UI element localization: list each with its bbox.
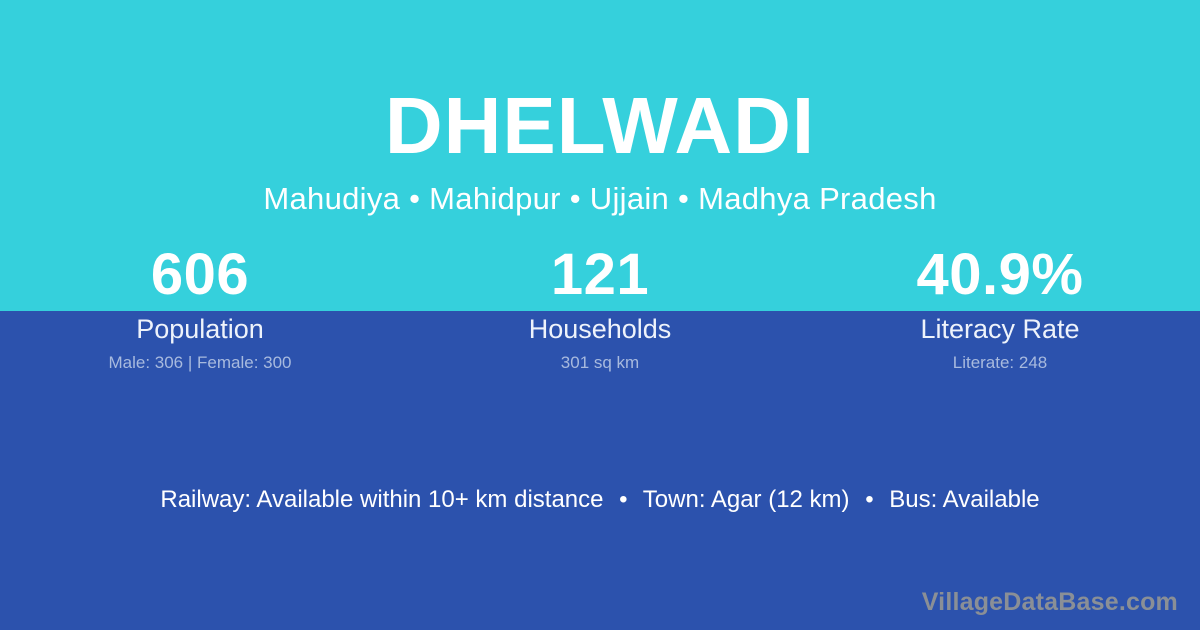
stat-label-literacy-rate: Literacy Rate xyxy=(800,312,1200,346)
stat-label-households: Households xyxy=(400,312,800,346)
stat-value-literacy-rate: 40.9% xyxy=(800,240,1200,310)
stat-value-population: 606 xyxy=(0,240,400,310)
stat-sub-households: 301 sq km xyxy=(400,352,800,374)
page-title: DHELWADI xyxy=(0,0,1200,172)
stat-sub-population: Male: 306 | Female: 300 xyxy=(0,352,400,374)
stat-sub-literacy-rate: Literate: 248 xyxy=(800,352,1200,374)
village-info-card: DHELWADI Mahudiya • Mahidpur • Ujjain • … xyxy=(0,0,1200,630)
amenity-bus: Bus: Available xyxy=(889,486,1039,513)
site-brand-watermark: VillageDataBase.com xyxy=(922,586,1178,618)
bullet-separator-icon: • xyxy=(856,486,882,513)
stat-label-population: Population xyxy=(0,312,400,346)
breadcrumb: Mahudiya • Mahidpur • Ujjain • Madhya Pr… xyxy=(0,172,1200,218)
amenities-line: Railway: Available within 10+ km distanc… xyxy=(0,483,1200,517)
stat-value-households: 121 xyxy=(400,240,800,310)
amenity-town: Town: Agar (12 km) xyxy=(643,486,850,513)
amenity-railway: Railway: Available within 10+ km distanc… xyxy=(160,486,603,513)
stat-literacy-rate: 40.9% Literacy Rate Literate: 248 xyxy=(800,240,1200,374)
stat-households: 121 Households 301 sq km xyxy=(400,240,800,374)
stat-population: 606 Population Male: 306 | Female: 300 xyxy=(0,240,400,374)
stats-row: 606 Population Male: 306 | Female: 300 1… xyxy=(0,240,1200,374)
bullet-separator-icon: • xyxy=(610,486,636,513)
header: DHELWADI Mahudiya • Mahidpur • Ujjain • … xyxy=(0,0,1200,218)
